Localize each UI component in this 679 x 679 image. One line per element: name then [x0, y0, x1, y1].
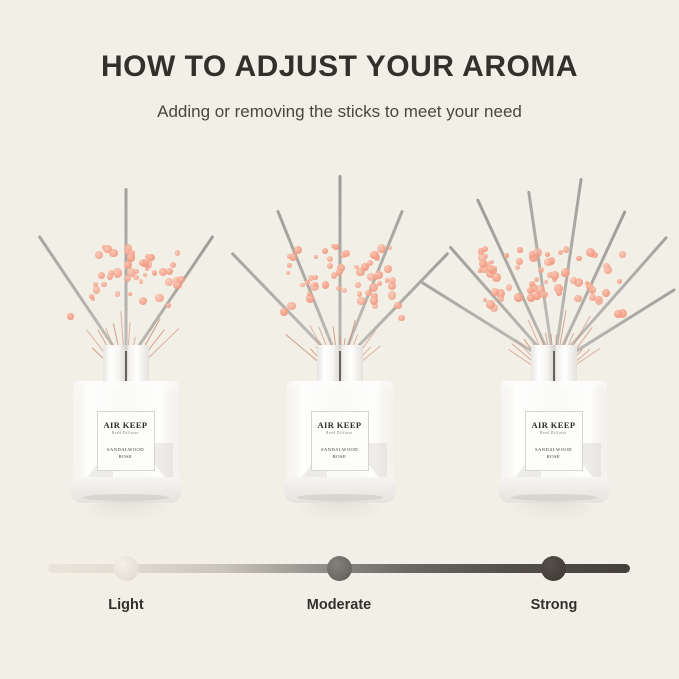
flower-blossom [165, 278, 173, 286]
flower-blossom [152, 270, 157, 275]
flower-blossom [134, 269, 139, 274]
flower-blossom [517, 247, 522, 252]
page-subtitle: Adding or removing the sticks to meet yo… [0, 103, 679, 120]
flower-blossom [506, 284, 513, 291]
flower-blossom [166, 268, 173, 275]
label-brand: AIR KEEP [531, 421, 575, 430]
flower-blossom [544, 258, 552, 266]
bottle-reflection [506, 501, 602, 523]
bottle-reflection [78, 501, 174, 523]
product-row: AIR KEEP Reed Diffuser SANDALWOODROSE AI… [0, 150, 679, 510]
flower-blossom [538, 267, 544, 273]
flower-blossom [67, 313, 73, 319]
flower-blossom [527, 294, 535, 302]
flower-blossom [113, 268, 122, 277]
product-light[interactable]: AIR KEEP Reed Diffuser SANDALWOODROSE [18, 150, 233, 510]
diffuser-bottle-light: AIR KEEP Reed Diffuser SANDALWOODROSE [66, 345, 186, 525]
flower-blossom [175, 250, 181, 256]
flower-blossom [540, 291, 547, 298]
flower-blossom [498, 295, 505, 302]
flower-blossom [384, 265, 392, 273]
slider-label-moderate: Moderate [269, 598, 409, 613]
flower-blossom [166, 303, 171, 308]
slider-knob-moderate[interactable] [327, 556, 352, 581]
flower-blossom [342, 288, 347, 293]
flower-blossom [544, 280, 548, 284]
flower-blossom [124, 275, 131, 282]
flower-blossom [308, 275, 314, 281]
flower-blossom [492, 273, 501, 282]
flower-blossom [482, 246, 488, 252]
flower-blossom [343, 250, 350, 257]
bottle-base [284, 477, 396, 503]
flower-blossom [558, 250, 563, 255]
flower-blossom [492, 266, 497, 271]
slider-label-light: Light [56, 598, 196, 613]
flower-blossom [355, 282, 361, 288]
flower-blossom [516, 258, 523, 265]
bottle-collar [317, 345, 363, 385]
flower-blossom [127, 253, 135, 261]
label-scent: SANDALWOODROSE [535, 447, 572, 461]
flower-blossom [139, 297, 147, 305]
page-title: HOW TO ADJUST YOUR AROMA [0, 52, 679, 82]
flower-blossom [173, 281, 182, 290]
flower-blossom [388, 246, 392, 250]
flower-blossom [515, 265, 520, 270]
label-brand-sub: Reed Diffuser [540, 432, 567, 436]
slider-knob-light[interactable] [114, 556, 139, 581]
flower-blossom [101, 282, 106, 287]
slider-label-strong: Strong [484, 598, 624, 613]
product-moderate[interactable]: AIR KEEP Reed Diffuser SANDALWOODROSE [232, 150, 447, 510]
flower-blossom [484, 254, 489, 259]
product-strong[interactable]: AIR KEEP Reed Diffuser SANDALWOODROSE [446, 150, 661, 510]
flower-blossom [604, 266, 612, 274]
flower-blossom [367, 260, 373, 266]
flower-blossom [322, 248, 328, 254]
flower-blossom [170, 262, 176, 268]
flower-blossom [574, 295, 582, 303]
slider-knob-strong[interactable] [541, 556, 566, 581]
flower-blossom [586, 248, 595, 257]
flower-blossom [514, 293, 523, 302]
label-brand: AIR KEEP [103, 421, 147, 430]
bottle-base [70, 477, 182, 503]
flower-blossom [143, 273, 147, 277]
flower-blossom [596, 296, 602, 302]
flower-blossom [294, 246, 302, 254]
flower-blossom [307, 291, 312, 296]
flower-blossom [394, 302, 401, 309]
flower-blossom [139, 279, 143, 283]
flower-blossom [357, 291, 362, 296]
header: HOW TO ADJUST YOUR AROMA Adding or remov… [0, 0, 679, 120]
flower-blossom [556, 289, 563, 296]
dried-flowers-moderate [232, 238, 447, 358]
flower-blossom [589, 289, 593, 293]
dried-flowers-strong [446, 238, 661, 358]
label-brand: AIR KEEP [317, 421, 361, 430]
flower-blossom [486, 300, 495, 309]
flower-blossom [529, 281, 535, 287]
flower-blossom [551, 271, 560, 280]
flower-blossom [128, 292, 132, 296]
flower-blossom [534, 277, 539, 282]
flower-blossom [155, 294, 164, 303]
product-label: AIR KEEP Reed Diffuser SANDALWOODROSE [311, 411, 369, 471]
flower-blossom [287, 263, 292, 268]
flower-blossom [504, 253, 508, 257]
product-label: AIR KEEP Reed Diffuser SANDALWOODROSE [97, 411, 155, 471]
flower-blossom [576, 256, 582, 262]
flower-blossom [398, 315, 405, 322]
flower-blossom [388, 291, 397, 300]
flower-blossom [327, 256, 333, 262]
flower-blossom [314, 255, 318, 259]
flower-blossom [300, 283, 304, 287]
label-scent: SANDALWOODROSE [107, 447, 144, 461]
flower-blossom [322, 281, 329, 288]
flower-blossom [602, 289, 611, 298]
intensity-slider[interactable]: Light Moderate Strong [0, 556, 679, 656]
flower-blossom [289, 253, 297, 261]
diffuser-bottle-moderate: AIR KEEP Reed Diffuser SANDALWOODROSE [280, 345, 400, 525]
flower-blossom [619, 251, 626, 258]
bottle-collar [531, 345, 577, 385]
flower-blossom [287, 302, 295, 310]
flower-blossom [93, 286, 100, 293]
flower-blossom [98, 272, 105, 279]
flower-blossom [313, 282, 318, 287]
flower-blossom [561, 268, 570, 277]
flower-blossom [370, 296, 379, 305]
flower-blossom [370, 251, 379, 260]
flower-blossom [570, 277, 577, 284]
flower-blossom [103, 245, 111, 253]
flower-blossom [286, 271, 290, 275]
label-scent: SANDALWOODROSE [321, 447, 358, 461]
label-brand-sub: Reed Diffuser [112, 432, 139, 436]
flower-blossom [563, 246, 570, 253]
flower-blossom [95, 251, 103, 259]
flower-blossom [147, 254, 155, 262]
flower-blossom [145, 267, 149, 271]
flower-blossom [617, 279, 622, 284]
flower-blossom [367, 273, 375, 281]
flower-blossom [336, 269, 342, 275]
bottle-base [498, 477, 610, 503]
bottle-collar [103, 345, 149, 385]
dried-flowers-light [18, 238, 233, 358]
flower-blossom [375, 271, 383, 279]
flower-blossom [115, 291, 121, 297]
flower-blossom [357, 297, 366, 306]
bottle-reflection [292, 501, 388, 523]
flower-blossom [478, 268, 483, 273]
flower-blossom [107, 274, 113, 280]
flower-blossom [479, 260, 487, 268]
flower-blossom [280, 308, 289, 317]
flower-blossom [133, 275, 138, 280]
flower-blossom [380, 247, 385, 252]
product-label: AIR KEEP Reed Diffuser SANDALWOODROSE [525, 411, 583, 471]
flower-blossom [327, 263, 333, 269]
diffuser-bottle-strong: AIR KEEP Reed Diffuser SANDALWOODROSE [494, 345, 614, 525]
label-brand-sub: Reed Diffuser [326, 432, 353, 436]
